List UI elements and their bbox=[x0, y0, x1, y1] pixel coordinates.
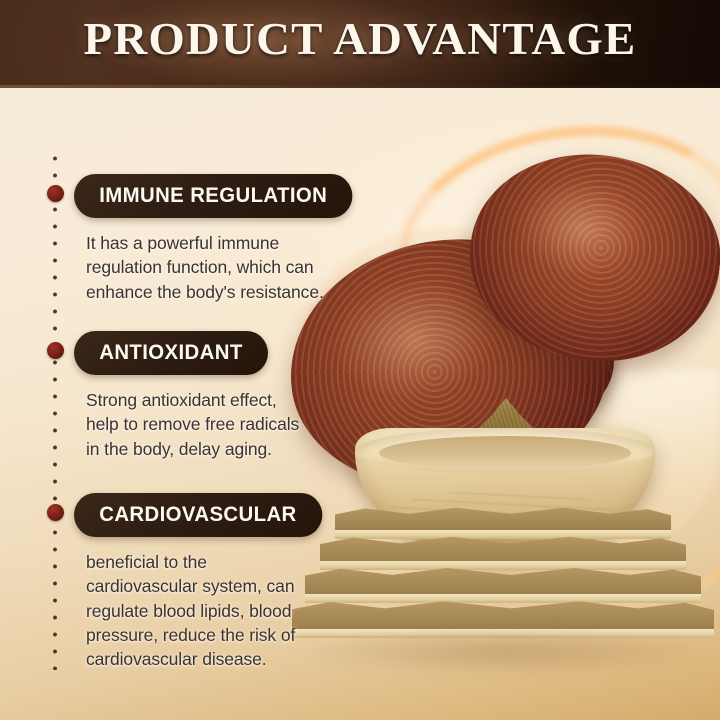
feature-description-antioxidant: Strong antioxidant effect, help to remov… bbox=[86, 388, 299, 461]
header-banner: PRODUCT ADVANTAGE bbox=[0, 0, 720, 88]
feature-badge-immune-regulation[interactable]: IMMUNE REGULATION bbox=[74, 174, 352, 218]
timeline-bullet-icon bbox=[47, 185, 64, 202]
feature-block-antioxidant: ANTIOXIDANT Strong antioxidant effect, h… bbox=[74, 331, 299, 461]
timeline-bullet-icon bbox=[47, 342, 64, 359]
feature-description-immune-regulation: It has a powerful immune regulation func… bbox=[86, 231, 361, 304]
feature-badge-cardiovascular[interactable]: CARDIOVASCULAR bbox=[74, 493, 322, 537]
timeline-bullet-icon bbox=[47, 504, 64, 521]
feature-block-cardiovascular: CARDIOVASCULAR beneficial to the cardiov… bbox=[74, 493, 330, 672]
feature-description-cardiovascular: beneficial to the cardiovascular system,… bbox=[86, 550, 330, 672]
feature-badge-antioxidant[interactable]: ANTIOXIDANT bbox=[74, 331, 268, 375]
page-title: PRODUCT ADVANTAGE bbox=[0, 13, 720, 65]
feature-block-immune-regulation: IMMUNE REGULATION It has a powerful immu… bbox=[74, 174, 361, 304]
product-advantage-infographic: PRODUCT ADVANTAGE I bbox=[0, 0, 720, 720]
dotted-timeline bbox=[52, 150, 58, 670]
